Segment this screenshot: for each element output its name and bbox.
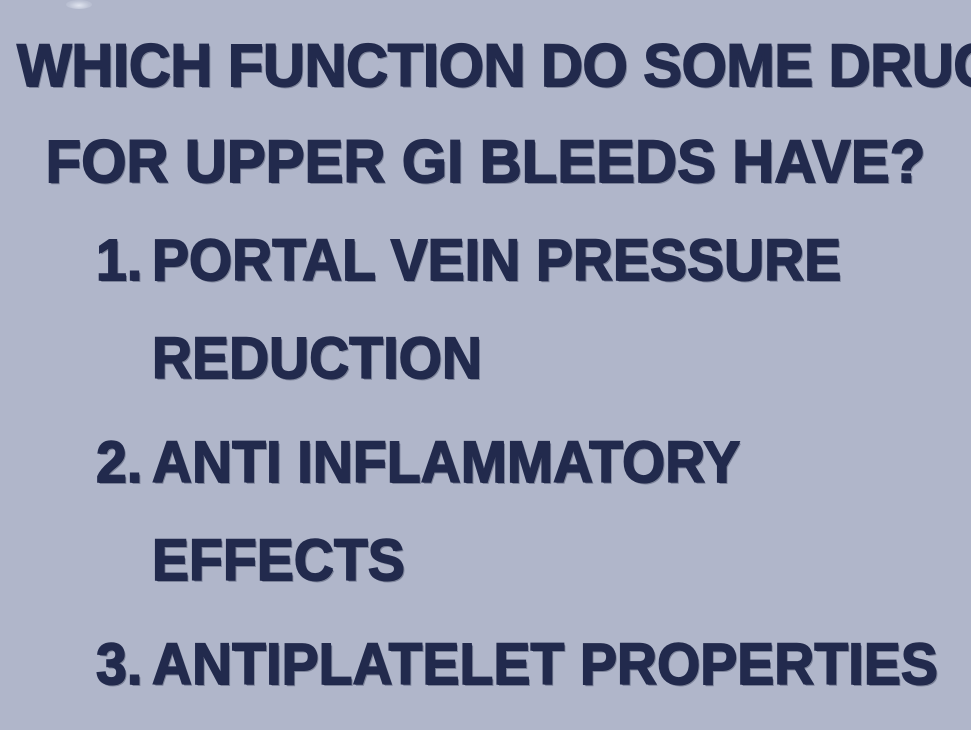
- quiz-card: WHICH FUNCTION DO SOME DRUGS FOR UPPER G…: [0, 0, 971, 730]
- answer-option-1-line-1: PORTAL VEIN PRESSURE: [152, 212, 930, 310]
- answer-option-3[interactable]: 3. ANTIPLATELET PROPERTIES: [0, 616, 971, 714]
- answer-option-1[interactable]: 1. PORTAL VEIN PRESSURE REDUCTION: [0, 212, 971, 408]
- question-block: WHICH FUNCTION DO SOME DRUGS FOR UPPER G…: [0, 18, 971, 210]
- question-line-2: FOR UPPER GI BLEEDS HAVE?: [17, 114, 954, 210]
- answer-option-1-number: 1.: [96, 212, 149, 310]
- answer-option-2-number: 2.: [96, 414, 149, 512]
- answer-option-1-label: PORTAL VEIN PRESSURE REDUCTION: [152, 212, 930, 408]
- question-line-1: WHICH FUNCTION DO SOME DRUGS: [17, 18, 954, 114]
- answer-option-2-line-1: ANTI INFLAMMATORY: [152, 414, 930, 512]
- answer-options-list: 1. PORTAL VEIN PRESSURE REDUCTION 2. ANT…: [0, 212, 971, 720]
- answer-option-3-line-1: ANTIPLATELET PROPERTIES: [152, 616, 931, 714]
- image-artifact-smudge: [66, 0, 92, 9]
- answer-option-2-line-2: EFFECTS: [152, 512, 930, 610]
- answer-option-1-line-2: REDUCTION: [152, 310, 930, 408]
- answer-option-2[interactable]: 2. ANTI INFLAMMATORY EFFECTS: [0, 414, 971, 610]
- answer-option-3-label: ANTIPLATELET PROPERTIES: [152, 616, 931, 714]
- answer-option-2-label: ANTI INFLAMMATORY EFFECTS: [152, 414, 930, 610]
- answer-option-3-number: 3.: [96, 616, 149, 714]
